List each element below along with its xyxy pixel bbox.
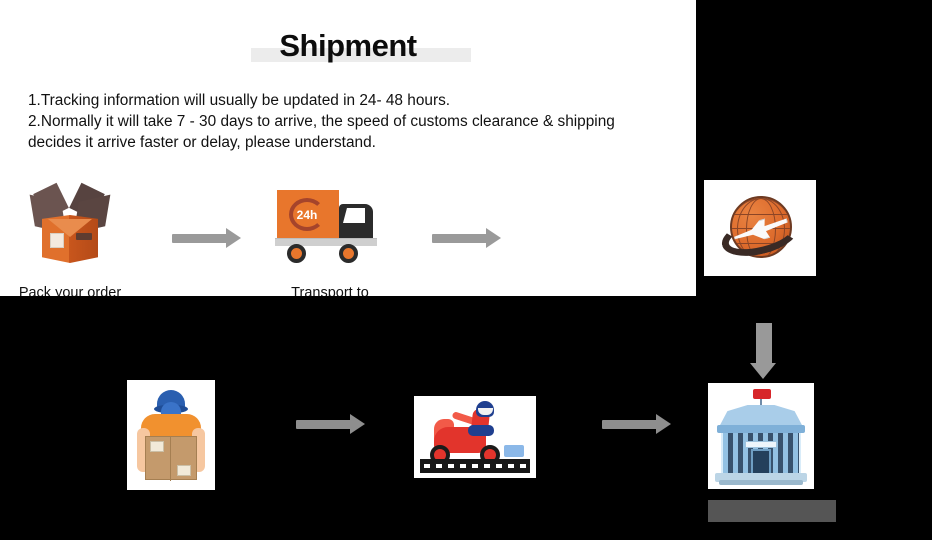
note-line-2: 2.Normally it will take 7 - 30 days to a… bbox=[28, 111, 696, 132]
globe-airplane-icon bbox=[717, 188, 803, 268]
post-office-building-icon-card bbox=[708, 383, 814, 489]
truck-badge-label: 24h bbox=[297, 208, 318, 222]
arrow-down-icon bbox=[752, 323, 776, 381]
arrow-right-icon bbox=[400, 234, 520, 243]
page-title: Shipment bbox=[0, 28, 696, 64]
flow-step-transport-to: 24h Transport to bbox=[260, 175, 400, 296]
arrow-right-icon bbox=[296, 420, 352, 429]
note-line-1: 1.Tracking information will usually be u… bbox=[28, 90, 696, 111]
scooter-courier-on-road-icon bbox=[420, 401, 530, 473]
delivery-person-with-box-icon bbox=[135, 386, 207, 484]
slide-content-panel: Shipment 1.Tracking information will usu… bbox=[0, 0, 696, 296]
delivery-truck-24h-icon: 24h bbox=[275, 175, 385, 275]
shipment-flow-top-row: Pack your order 24h Tra bbox=[0, 175, 696, 296]
shipment-notes: 1.Tracking information will usually be u… bbox=[28, 90, 696, 153]
globe-airplane-icon-card bbox=[704, 180, 816, 276]
post-office-building-icon bbox=[715, 387, 807, 485]
delivery-person-icon-card bbox=[127, 380, 215, 490]
flow-step-label: Transport to bbox=[291, 285, 369, 296]
slide-canvas: Shipment 1.Tracking information will usu… bbox=[0, 0, 932, 540]
note-line-3: decides it arrive faster or delay, pleas… bbox=[28, 132, 696, 153]
bottom-gray-bar bbox=[708, 500, 836, 522]
flow-step-label: Pack your order bbox=[19, 285, 121, 296]
scooter-courier-icon-card bbox=[414, 396, 536, 478]
arrow-right-icon bbox=[140, 234, 260, 243]
flow-step-pack-order: Pack your order bbox=[0, 175, 140, 296]
arrow-right-icon bbox=[602, 420, 658, 429]
title-text: Shipment bbox=[279, 28, 416, 63]
open-cardboard-box-icon bbox=[24, 175, 116, 275]
